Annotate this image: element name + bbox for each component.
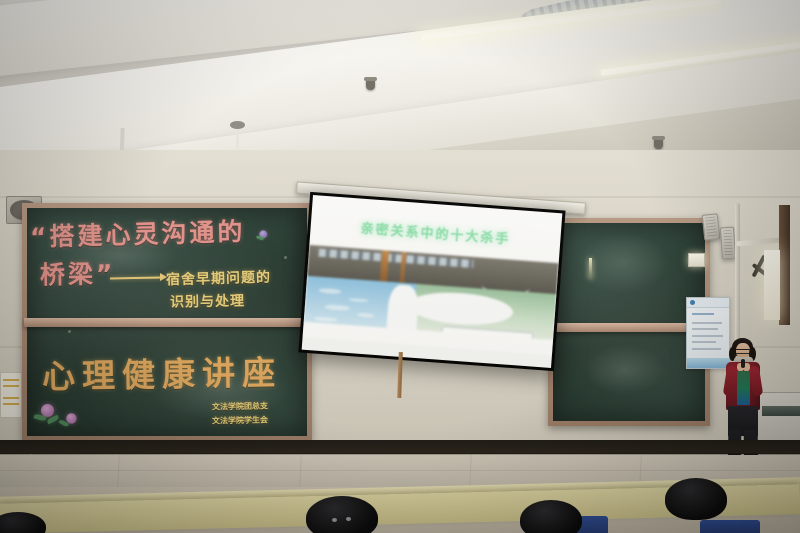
board-headline: 心理健康讲座 [42,346,283,398]
lecture-hall-photo: “搭建心灵沟通的 桥梁” 宿舍早期问题的 识别与处理 心理健康讲座 文法学院团总… [0,0,800,533]
wall-speaker-icon [720,227,736,260]
glasses-icon [736,349,750,354]
blackboard-chalk-rail [24,318,310,327]
chalk-flower-icon [255,227,271,241]
board-text-line4: 识别与处理 [170,290,245,311]
notice-small [0,372,22,418]
chair [700,520,760,533]
door-frame [779,205,790,325]
window-light [764,250,780,320]
microphone-icon [741,359,745,368]
audience-head [306,496,378,533]
board-text-line2: 桥梁” [40,254,116,291]
audience-head [520,500,582,533]
chalk-mark [589,258,592,279]
audience-head [665,478,727,520]
sprinkler-head-icon [654,139,663,149]
board-text-line3: 宿舍早期问题的 [166,267,271,290]
projection-screen-surface: 亲密关系中的十大杀手 [302,195,563,368]
slide-title: 亲密关系中的十大杀手 [310,214,561,251]
emergency-light-icon [688,253,705,267]
board-text-line1: “搭建心灵沟通的 [30,212,246,254]
sprinkler-head-icon [366,80,375,90]
chalk-flower-icon [34,398,60,422]
blackboard-chalk-rail [550,323,708,332]
stage-wall-base [0,440,800,454]
slide-photo [303,245,559,355]
chalk-flower-icon [61,408,82,427]
presenter-shirt [737,371,750,405]
wall-speaker-icon [702,213,721,241]
board-signature-2: 文法学院学生会 [212,415,268,427]
projection-screen[interactable]: 亲密关系中的十大杀手 [298,192,565,371]
board-signature-1: 文法学院团总支 [212,401,268,413]
